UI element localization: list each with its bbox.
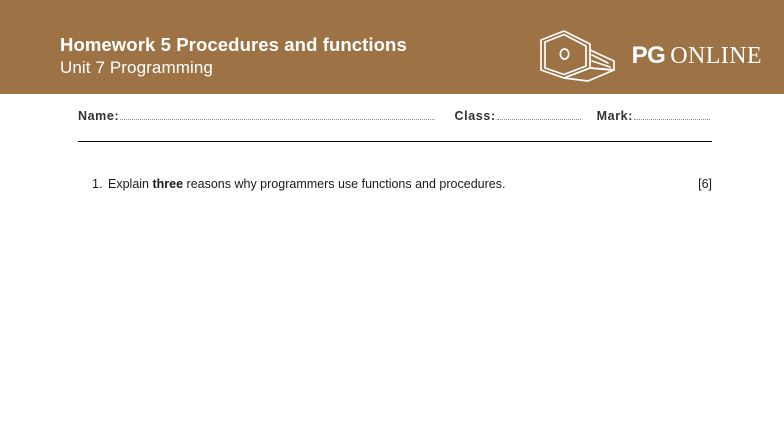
header-band: Homework 5 Procedures and functions Unit… [0, 0, 784, 94]
answer-area[interactable] [78, 204, 712, 429]
question-row: 1. Explain three reasons why programmers… [78, 176, 712, 192]
question-number: 1. [78, 176, 108, 192]
worksheet-page: Homework 5 Procedures and functions Unit… [0, 0, 784, 441]
page-subtitle: Unit 7 Programming [60, 57, 407, 79]
brand-text: PG ONLINE [632, 42, 762, 70]
mark-label: Mark: [597, 109, 633, 123]
brand-logo: PG ONLINE [534, 28, 762, 84]
laptop-icon [534, 28, 622, 84]
question-text: Explain three reasons why programmers us… [108, 176, 686, 192]
header-title-block: Homework 5 Procedures and functions Unit… [60, 34, 407, 79]
brand-pg: PG [632, 42, 666, 70]
class-input[interactable] [497, 108, 581, 120]
brand-online: ONLINE [670, 43, 762, 70]
question-text-before: Explain [108, 177, 152, 191]
name-input[interactable] [120, 108, 434, 120]
mark-input[interactable] [634, 108, 710, 120]
question-text-after: reasons why programmers use functions an… [183, 177, 505, 191]
name-label: Name: [78, 109, 119, 123]
page-title: Homework 5 Procedures and functions [60, 34, 407, 56]
question-marks: [6] [686, 176, 712, 192]
identity-row: Name: Class: Mark: [78, 108, 712, 130]
question-text-emphasis: three [152, 177, 183, 191]
header-divider-rule [78, 141, 712, 142]
class-label: Class: [455, 109, 496, 123]
